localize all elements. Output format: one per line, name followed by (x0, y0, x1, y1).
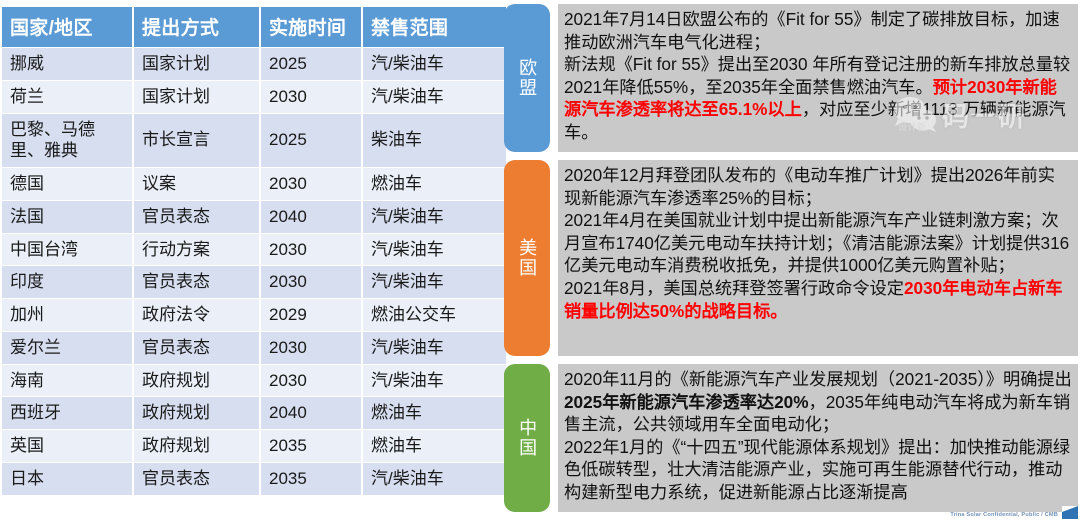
table-row: 挪威国家计划2025汽/柴油车 (2, 48, 506, 80)
cn-paragraph-1: 2020年11月的《新能源汽车产业发展规划（2021-2035）》明确提出202… (564, 368, 1072, 436)
table-row: 日本官员表态2035汽/柴油车 (2, 463, 506, 495)
cell-year: 2040 (261, 201, 361, 233)
cell-scope: 燃油车 (363, 430, 506, 462)
us-paragraph-1: 2020年12月拜登团队发布的《电动车推广计划》提出2026年前实现新能源汽车渗… (564, 164, 1072, 209)
cell-region: 西班牙 (2, 397, 132, 429)
cell-scope: 汽/柴油车 (363, 332, 506, 364)
tab-label-cn[interactable]: 中国 (504, 364, 550, 512)
table-row: 爱尔兰官员表态2030汽/柴油车 (2, 332, 506, 364)
cell-method: 行动方案 (134, 234, 259, 266)
cell-year: 2029 (261, 299, 361, 331)
panel-eu: 欧盟 2021年7月14日欧盟公布的《Fit for 55》制定了碳排放目标，加… (504, 4, 1078, 152)
cell-scope: 汽/柴油车 (363, 266, 506, 298)
tab-label-eu[interactable]: 欧盟 (504, 4, 550, 152)
cell-region: 荷兰 (2, 81, 132, 113)
cell-region: 巴黎、马德里、雅典 (2, 114, 132, 168)
us-paragraph-2: 2021年4月在美国就业计划中提出新能源汽车产业链刺激方案；次月宣布1740亿美… (564, 209, 1072, 277)
cell-year: 2040 (261, 397, 361, 429)
cell-year: 2030 (261, 266, 361, 298)
cn-para1-text-a: 2020年11月的《新能源汽车产业发展规划（2021-2035）》明确提出 (564, 369, 1072, 389)
table-row: 加州政府法令2029燃油公交车 (2, 299, 506, 331)
cell-region: 爱尔兰 (2, 332, 132, 364)
cell-region: 中国台湾 (2, 234, 132, 266)
table-row: 中国台湾行动方案2030汽/柴油车 (2, 234, 506, 266)
table-header-row: 国家/地区 提出方式 实施时间 禁售范围 (2, 7, 506, 47)
cell-year: 2030 (261, 81, 361, 113)
panel-body-us: 2020年12月拜登团队发布的《电动车推广计划》提出2026年前实现新能源汽车渗… (558, 160, 1078, 356)
table-header: 国家/地区 提出方式 实施时间 禁售范围 (2, 7, 506, 47)
cell-scope: 柴油车 (363, 114, 506, 168)
footer-confidentiality: Trina Solar Confidential, Public / CMB (950, 506, 1078, 519)
us-para3-text-a: 2021年8月，美国总统拜登签署行政命令设定 (564, 278, 904, 298)
brand-mark-icon (1062, 506, 1078, 519)
cell-scope: 汽/柴油车 (363, 81, 506, 113)
cell-region: 海南 (2, 365, 132, 397)
panel-cn: 中国 2020年11月的《新能源汽车产业发展规划（2021-2035）》明确提出… (504, 364, 1078, 512)
cell-scope: 汽/柴油车 (363, 234, 506, 266)
cn-paragraph-2: 2022年1月的《“十四五”现代能源体系规划》提出：加快推动能源绿色低碳转型，壮… (564, 436, 1072, 504)
cn-highlight-bold: 2025年新能源汽车渗透率达20% (564, 392, 809, 412)
column-header-method: 提出方式 (134, 7, 259, 47)
panel-body-eu: 2021年7月14日欧盟公布的《Fit for 55》制定了碳排放目标，加速推动… (558, 4, 1078, 152)
cell-scope: 汽/柴油车 (363, 201, 506, 233)
cell-region: 英国 (2, 430, 132, 462)
cell-scope: 汽/柴油车 (363, 463, 506, 495)
table-row: 海南政府规划2030汽/柴油车 (2, 365, 506, 397)
table-row: 英国政府规划2035燃油车 (2, 430, 506, 462)
table-row: 巴黎、马德里、雅典市长宣言2025柴油车 (2, 114, 506, 168)
slide-root: 国家/地区 提出方式 实施时间 禁售范围 挪威国家计划2025汽/柴油车荷兰国家… (0, 0, 1080, 521)
region-panels: 欧盟 2021年7月14日欧盟公布的《Fit for 55》制定了碳排放目标，加… (500, 0, 1080, 521)
column-header-year: 实施时间 (261, 7, 361, 47)
eu-paragraph-2: 新法规《Fit for 55》提出至2030 年所有登记注册的新车排放总量较20… (564, 53, 1072, 143)
table-row: 德国议案2030燃油车 (2, 168, 506, 200)
cell-method: 官员表态 (134, 463, 259, 495)
cell-method: 议案 (134, 168, 259, 200)
cell-year: 2030 (261, 168, 361, 200)
cell-year: 2035 (261, 463, 361, 495)
ban-policy-table: 国家/地区 提出方式 实施时间 禁售范围 挪威国家计划2025汽/柴油车荷兰国家… (0, 6, 508, 496)
cell-scope: 汽/柴油车 (363, 48, 506, 80)
cell-year: 2030 (261, 234, 361, 266)
cell-region: 日本 (2, 463, 132, 495)
cell-region: 加州 (2, 299, 132, 331)
cell-region: 印度 (2, 266, 132, 298)
panel-body-cn: 2020年11月的《新能源汽车产业发展规划（2021-2035）》明确提出202… (558, 364, 1078, 512)
cell-method: 政府规划 (134, 397, 259, 429)
table-row: 西班牙政府规划2040燃油车 (2, 397, 506, 429)
cell-method: 政府规划 (134, 430, 259, 462)
us-paragraph-3: 2021年8月，美国总统拜登签署行政命令设定2030年电动车占新车销量比例达50… (564, 277, 1072, 322)
policy-table-container: 国家/地区 提出方式 实施时间 禁售范围 挪威国家计划2025汽/柴油车荷兰国家… (0, 0, 500, 521)
panel-us: 美国 2020年12月拜登团队发布的《电动车推广计划》提出2026年前实现新能源… (504, 160, 1078, 356)
cell-region: 法国 (2, 201, 132, 233)
cell-scope: 燃油公交车 (363, 299, 506, 331)
table-row: 法国官员表态2040汽/柴油车 (2, 201, 506, 233)
cell-method: 市长宣言 (134, 114, 259, 168)
cell-method: 官员表态 (134, 201, 259, 233)
cell-method: 国家计划 (134, 81, 259, 113)
cell-region: 德国 (2, 168, 132, 200)
cell-region: 挪威 (2, 48, 132, 80)
eu-paragraph-1: 2021年7月14日欧盟公布的《Fit for 55》制定了碳排放目标，加速推动… (564, 8, 1072, 53)
cell-year: 2030 (261, 365, 361, 397)
cell-year: 2035 (261, 430, 361, 462)
cell-method: 官员表态 (134, 332, 259, 364)
table-row: 印度官员表态2030汽/柴油车 (2, 266, 506, 298)
cell-method: 官员表态 (134, 266, 259, 298)
tab-label-us[interactable]: 美国 (504, 160, 550, 356)
cell-method: 政府规划 (134, 365, 259, 397)
cell-scope: 燃油车 (363, 168, 506, 200)
column-header-region: 国家/地区 (2, 7, 132, 47)
cell-scope: 燃油车 (363, 397, 506, 429)
cell-scope: 汽/柴油车 (363, 365, 506, 397)
table-row: 荷兰国家计划2030汽/柴油车 (2, 81, 506, 113)
column-header-scope: 禁售范围 (363, 7, 506, 47)
cell-method: 政府法令 (134, 299, 259, 331)
cell-method: 国家计划 (134, 48, 259, 80)
table-body: 挪威国家计划2025汽/柴油车荷兰国家计划2030汽/柴油车巴黎、马德里、雅典市… (2, 48, 506, 495)
cell-year: 2030 (261, 332, 361, 364)
cell-year: 2025 (261, 48, 361, 80)
cell-year: 2025 (261, 114, 361, 168)
footer-text: Trina Solar Confidential, Public / CMB (950, 512, 1058, 519)
